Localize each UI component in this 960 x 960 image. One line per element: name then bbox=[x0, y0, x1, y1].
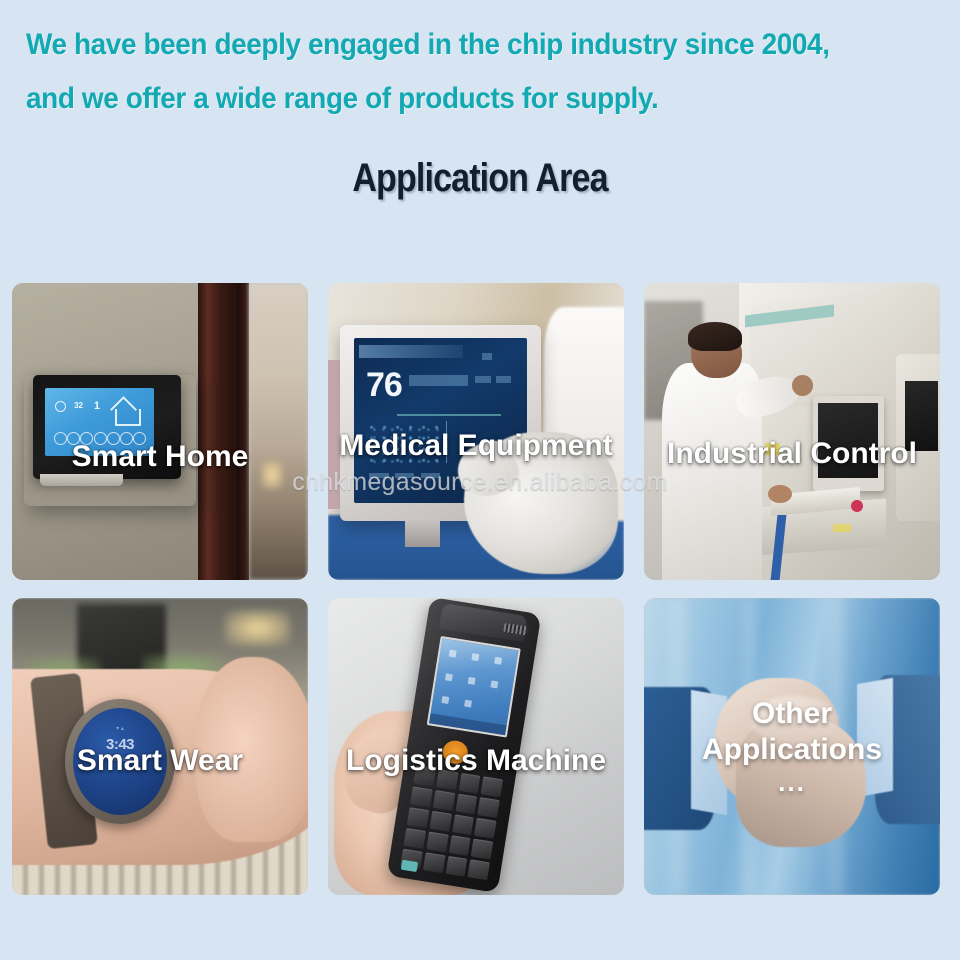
vital-reading: 76 bbox=[366, 368, 402, 402]
temperature-readout: 32 bbox=[74, 401, 83, 410]
mode-readout: 1 bbox=[94, 400, 100, 412]
industrial-control-photo bbox=[644, 283, 940, 580]
logistics-machine-photo bbox=[328, 598, 624, 895]
card-medical-equipment[interactable]: 76 Medical Equipment bbox=[328, 283, 624, 580]
medical-equipment-photo: 76 bbox=[328, 283, 624, 580]
other-applications-line-2: Applications bbox=[644, 732, 940, 768]
page-title: Application Area bbox=[72, 152, 888, 204]
card-smart-home[interactable]: 32 1 Smart Home bbox=[12, 283, 308, 580]
card-other-applications[interactable]: Other Applications ... bbox=[644, 598, 940, 895]
headline-line-1: We have been deeply engaged in the chip … bbox=[26, 18, 870, 72]
smart-home-photo: 32 1 bbox=[12, 283, 308, 580]
weather-icon bbox=[55, 401, 66, 412]
card-label-other-applications: Other Applications bbox=[644, 696, 940, 768]
watch-date-line: Thursday bbox=[73, 757, 167, 763]
home-icon bbox=[112, 399, 142, 425]
card-industrial-control[interactable]: Industrial Control bbox=[644, 283, 940, 580]
watch-face: ▾ ▴ 3:43 Thursday bbox=[73, 708, 167, 815]
application-area-grid: 32 1 Smart Home bbox=[12, 283, 948, 895]
wall-control-panel: 32 1 bbox=[33, 375, 181, 479]
card-logistics-machine[interactable]: Logistics Machine bbox=[328, 598, 624, 895]
panel-icon-row bbox=[52, 432, 146, 448]
terminal-screen bbox=[426, 636, 520, 738]
headline-line-2: and we offer a wide range of products fo… bbox=[26, 72, 870, 126]
card-smart-wear[interactable]: ▾ ▴ 3:43 Thursday Smart Wear bbox=[12, 598, 308, 895]
watch-time: 3:43 bbox=[73, 736, 167, 753]
other-applications-line-1: Other bbox=[644, 696, 940, 732]
other-applications-ellipsis: ... bbox=[644, 767, 940, 798]
navigation-key[interactable] bbox=[441, 739, 469, 765]
panel-screen: 32 1 bbox=[45, 388, 155, 457]
machine-monitor bbox=[813, 396, 884, 491]
watch-status-line: ▾ ▴ bbox=[73, 725, 167, 732]
headline-block: We have been deeply engaged in the chip … bbox=[0, 0, 960, 126]
smartwatch: ▾ ▴ 3:43 Thursday bbox=[65, 699, 175, 824]
smart-wear-photo: ▾ ▴ 3:43 Thursday bbox=[12, 598, 308, 895]
